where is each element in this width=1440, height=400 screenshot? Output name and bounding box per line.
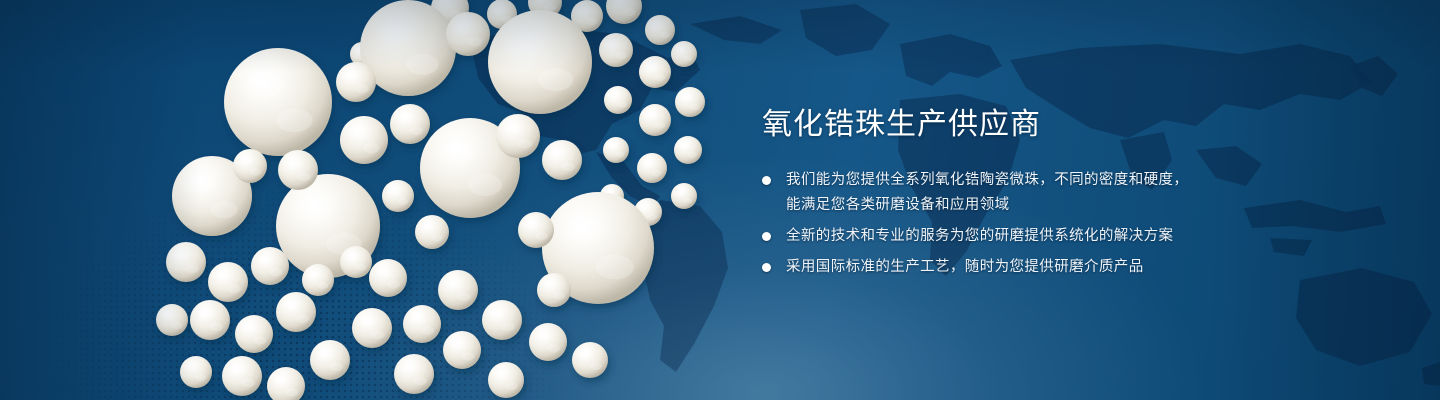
feature-line-1: 我们能为您提供全系列氧化锆陶瓷微珠，不同的密度和硬度，: [786, 172, 1188, 188]
feature-line-2: 能满足您各类研磨设备和应用领域: [786, 193, 1188, 218]
list-item: 全新的技术和专业的服务为您的研磨提供系统化的解决方案: [762, 224, 1382, 249]
feature-text: 全新的技术和专业的服务为您的研磨提供系统化的解决方案: [786, 224, 1173, 249]
bullet-dot-icon: [762, 232, 771, 241]
feature-list: 我们能为您提供全系列氧化锆陶瓷微珠，不同的密度和硬度， 能满足您各类研磨设备和应…: [762, 168, 1382, 280]
bullet-dot-icon: [762, 176, 771, 185]
feature-line-1: 采用国际标准的生产工艺，随时为您提供研磨介质产品: [786, 259, 1144, 275]
bullet-dot-icon: [762, 263, 771, 272]
hero-banner: 氧化锆珠生产供应商 我们能为您提供全系列氧化锆陶瓷微珠，不同的密度和硬度， 能满…: [0, 0, 1440, 400]
feature-line-1: 全新的技术和专业的服务为您的研磨提供系统化的解决方案: [786, 228, 1173, 244]
list-item: 我们能为您提供全系列氧化锆陶瓷微珠，不同的密度和硬度， 能满足您各类研磨设备和应…: [762, 168, 1382, 218]
feature-text: 采用国际标准的生产工艺，随时为您提供研磨介质产品: [786, 255, 1144, 280]
page-title: 氧化锆珠生产供应商: [762, 104, 1382, 146]
list-item: 采用国际标准的生产工艺，随时为您提供研磨介质产品: [762, 255, 1382, 280]
banner-content: 氧化锆珠生产供应商 我们能为您提供全系列氧化锆陶瓷微珠，不同的密度和硬度， 能满…: [762, 104, 1382, 286]
feature-text: 我们能为您提供全系列氧化锆陶瓷微珠，不同的密度和硬度， 能满足您各类研磨设备和应…: [786, 168, 1188, 218]
